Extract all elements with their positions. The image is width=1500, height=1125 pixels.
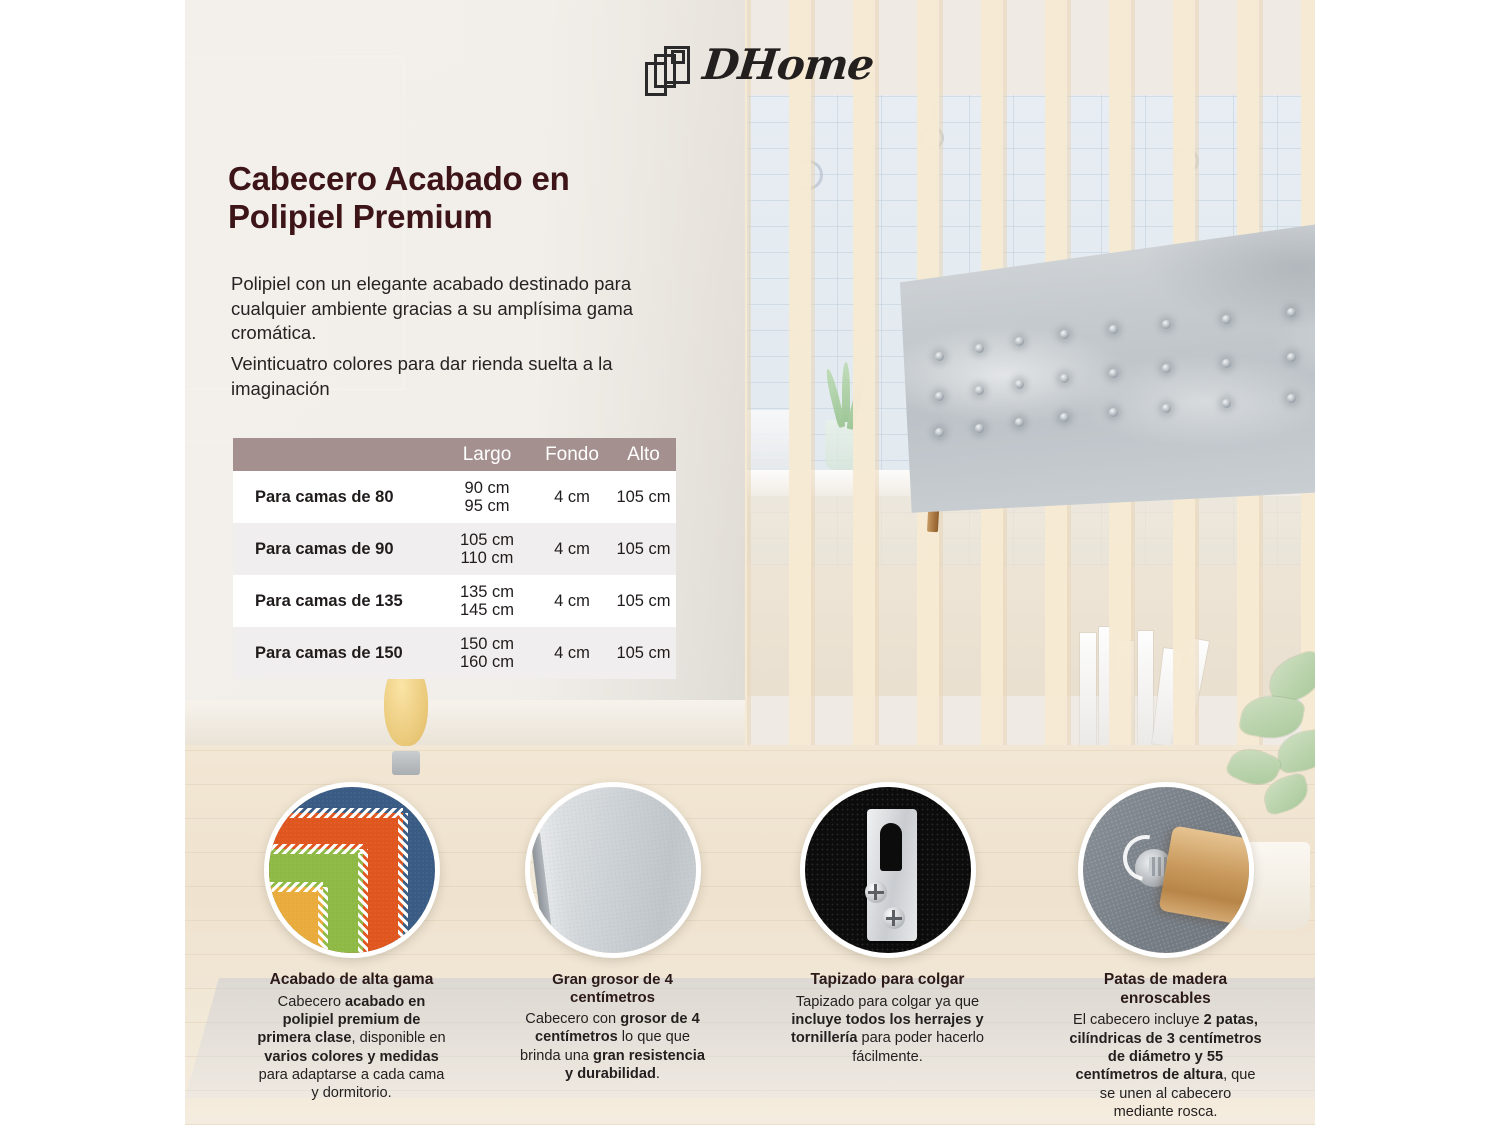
feature-card-3: Tapizado para colgar Tapizado para colga… (790, 782, 985, 1066)
skirting-board (185, 700, 745, 748)
infographic-canvas: DHome Cabecero Acabado en Polipiel Premi… (0, 0, 1500, 1125)
table-header-fondo: Fondo (533, 438, 611, 471)
feature-title: Tapizado para colgar (790, 971, 985, 990)
row-label: Para camas de 150 (233, 644, 441, 663)
intro-paragraph-2: Veinticuatro colores para dar rienda sue… (231, 352, 686, 401)
intro-paragraph-1: Polipiel con un elegante acabado destina… (231, 272, 686, 346)
table-header-row: Largo Fondo Alto (233, 438, 676, 471)
feature-card-1: Acabado de alta gama Cabecero acabado en… (254, 782, 449, 1103)
brand-name: DHome (700, 40, 875, 89)
feature-body: Cabecero con grosor de 4 centímetros lo … (515, 1010, 710, 1084)
squares-logo-icon (645, 46, 703, 100)
feature-body: Tapizado para colgar ya que incluye todo… (790, 993, 985, 1067)
headboard-sheen (897, 196, 1315, 516)
row-label: Para camas de 80 (233, 488, 441, 507)
table-header-largo: Largo (441, 438, 533, 471)
feature-body: El cabecero incluye 2 patas, cilíndricas… (1068, 1011, 1263, 1121)
table-header-alto: Alto (611, 438, 676, 471)
row-alto: 105 cm (611, 644, 676, 663)
feature-title: Patas de madera enroscables (1068, 971, 1263, 1008)
page-title-line2: Polipiel Premium (228, 198, 648, 236)
brand-logo: DHome (645, 38, 885, 106)
screw-in-wooden-leg-icon (1078, 782, 1254, 958)
fabric-swatches-icon (264, 782, 440, 958)
dimensions-table: Largo Fondo Alto Para camas de 80 90 cm … (233, 438, 676, 679)
row-largo: 150 cm 160 cm (441, 635, 533, 672)
row-largo: 135 cm 145 cm (441, 583, 533, 620)
row-fondo: 4 cm (533, 592, 611, 611)
table-row: Para camas de 135 135 cm 145 cm 4 cm 105… (233, 575, 676, 627)
page-title-line1: Cabecero Acabado en (228, 160, 648, 198)
row-alto: 105 cm (611, 540, 676, 559)
table-header-blank (233, 438, 441, 471)
feature-body: Cabecero acabado en polipiel premium de … (254, 993, 449, 1103)
row-fondo: 4 cm (533, 644, 611, 663)
row-alto: 105 cm (611, 592, 676, 611)
feature-title: Gran grosor de 4 centímetros (515, 971, 710, 1007)
table-row: Para camas de 80 90 cm 95 cm 4 cm 105 cm (233, 471, 676, 523)
feature-title: Acabado de alta gama (254, 971, 449, 990)
row-alto: 105 cm (611, 488, 676, 507)
row-fondo: 4 cm (533, 540, 611, 559)
table-row: Para camas de 90 105 cm 110 cm 4 cm 105 … (233, 523, 676, 575)
feature-card-2: Gran grosor de 4 centímetros Cabecero co… (515, 782, 710, 1084)
table-row: Para camas de 150 150 cm 160 cm 4 cm 105… (233, 627, 676, 679)
panel-thickness-icon (525, 782, 701, 958)
tufted-headboard (897, 196, 1315, 546)
page-title: Cabecero Acabado en Polipiel Premium (228, 160, 648, 236)
row-label: Para camas de 135 (233, 592, 441, 611)
row-largo: 105 cm 110 cm (441, 531, 533, 568)
wall-bracket-icon (800, 782, 976, 958)
feature-card-4: Patas de madera enroscables El cabecero … (1068, 782, 1263, 1121)
row-label: Para camas de 90 (233, 540, 441, 559)
row-fondo: 4 cm (533, 488, 611, 507)
row-largo: 90 cm 95 cm (441, 479, 533, 516)
